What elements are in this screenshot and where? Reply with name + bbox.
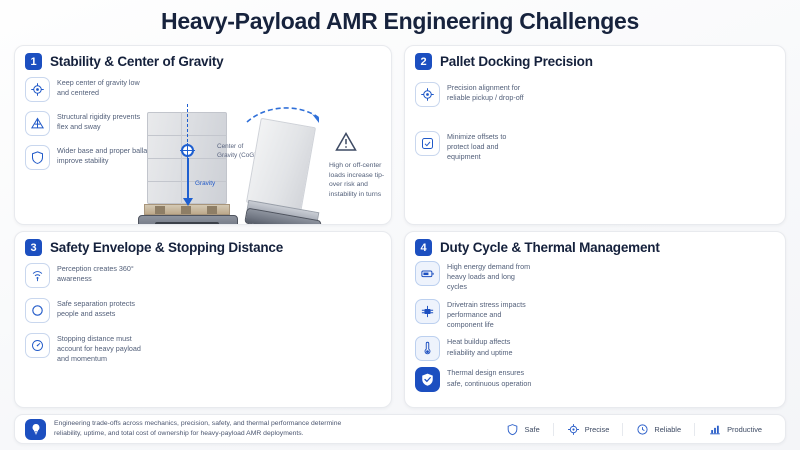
footer-line-2: reliability, uptime, and total cost of o… (54, 429, 341, 439)
card-safety: 3 Safety Envelope & Stopping Distance Pe… (14, 231, 392, 408)
warning-text: High or off-center loads increase tip-ov… (329, 160, 392, 200)
bullet-text: High energy demand from heavy loads and … (447, 261, 535, 293)
bullet-item: Drivetrain stress impacts performance an… (415, 299, 537, 331)
target-icon (567, 423, 580, 436)
card-2-header: 2 Pallet Docking Precision (405, 46, 785, 70)
bullet-item: Heat buildup affects reliability and upt… (415, 336, 537, 361)
chip-label: Productive (727, 425, 762, 434)
page-title: Heavy-Payload AMR Engineering Challenges (0, 8, 800, 35)
shield-icon (25, 145, 50, 170)
bullet-text: Thermal design ensures safe, continuous … (447, 367, 537, 388)
stability-illustration: Center of Gravity (CoG) Gravity Wheelbas… (133, 102, 392, 225)
battery-icon (415, 261, 440, 286)
card-2-bullets: Precision alignment for reliable pickup … (415, 82, 529, 163)
warning-triangle-icon (333, 130, 359, 154)
card-stability: 1 Stability & Center of Gravity Keep cen… (14, 45, 392, 225)
card-4-title: Duty Cycle & Thermal Management (440, 240, 660, 255)
cog-label-line2: Gravity (CoG) (217, 152, 256, 159)
footer-text: Engineering trade-offs across mechanics,… (54, 419, 341, 439)
bullet-item: Stopping distance must account for heavy… (25, 333, 153, 365)
card-2-title: Pallet Docking Precision (440, 54, 593, 69)
chip-label: Precise (585, 425, 610, 434)
chip-reliable[interactable]: Reliable (622, 423, 694, 436)
footer-line-1: Engineering trade-offs across mechanics,… (54, 419, 341, 429)
chip-precise[interactable]: Precise (553, 423, 623, 436)
card-duty-cycle: 4 Duty Cycle & Thermal Management High e… (404, 231, 786, 408)
bullet-item: Thermal design ensures safe, continuous … (415, 367, 537, 392)
card-4-header: 4 Duty Cycle & Thermal Management (405, 232, 785, 256)
bullet-text: Safe separation protects people and asse… (57, 298, 153, 319)
bullet-text: Precision alignment for reliable pickup … (447, 82, 529, 103)
bullet-item: Precision alignment for reliable pickup … (415, 82, 529, 107)
card-3-header: 3 Safety Envelope & Stopping Distance (15, 232, 391, 256)
card-docking: 2 Pallet Docking Precision Precision ali… (404, 45, 786, 225)
bullet-item: Minimize offsets to protect load and equ… (415, 131, 529, 163)
bullet-text: Heat buildup affects reliability and upt… (447, 336, 537, 357)
card-3-bullets: Perception creates 360° awareness Safe s… (25, 263, 153, 365)
infographic-page: Heavy-Payload AMR Engineering Challenges… (0, 0, 800, 450)
footer-chips: Safe Precise Reliable (493, 423, 775, 436)
card-3-number: 3 (25, 239, 42, 256)
checkbox-icon (415, 131, 440, 156)
target-icon (25, 77, 50, 102)
bullet-text: Keep center of gravity low and centered (57, 77, 153, 98)
card-4-bullets: High energy demand from heavy loads and … (415, 261, 537, 392)
gauge-icon (25, 333, 50, 358)
card-4-number: 4 (415, 239, 432, 256)
card-2-number: 2 (415, 53, 432, 70)
cog-label-line1: Center of (217, 143, 243, 150)
bullet-item: High energy demand from heavy loads and … (415, 261, 537, 293)
chip-safe[interactable]: Safe (493, 423, 552, 436)
shield-icon (506, 423, 519, 436)
circle-icon (25, 298, 50, 323)
gravity-label: Gravity (195, 180, 215, 187)
chart-icon (708, 423, 722, 436)
clock-icon (636, 423, 649, 436)
shield-check-icon (415, 367, 440, 392)
bullet-text: Drivetrain stress impacts performance an… (447, 299, 537, 331)
bullet-item: Perception creates 360° awareness (25, 263, 153, 288)
bullet-text: Perception creates 360° awareness (57, 263, 153, 284)
target-icon (415, 82, 440, 107)
lightbulb-icon (25, 419, 46, 440)
bullet-item: Safe separation protects people and asse… (25, 298, 153, 323)
chip-productive[interactable]: Productive (694, 423, 775, 436)
card-1-header: 1 Stability & Center of Gravity (15, 46, 391, 70)
card-1-title: Stability & Center of Gravity (50, 54, 224, 69)
bullet-text: Minimize offsets to protect load and equ… (447, 131, 529, 163)
motor-icon (415, 299, 440, 324)
card-1-number: 1 (25, 53, 42, 70)
thermometer-icon (415, 336, 440, 361)
bullet-item: Keep center of gravity low and centered (25, 77, 153, 102)
sensor-wave-icon (25, 263, 50, 288)
chip-label: Safe (524, 425, 539, 434)
footer-bar: Engineering trade-offs across mechanics,… (14, 414, 786, 444)
bullet-text: Stopping distance must account for heavy… (57, 333, 153, 365)
triangle-icon (25, 111, 50, 136)
card-3-title: Safety Envelope & Stopping Distance (50, 240, 283, 255)
chip-label: Reliable (654, 425, 681, 434)
